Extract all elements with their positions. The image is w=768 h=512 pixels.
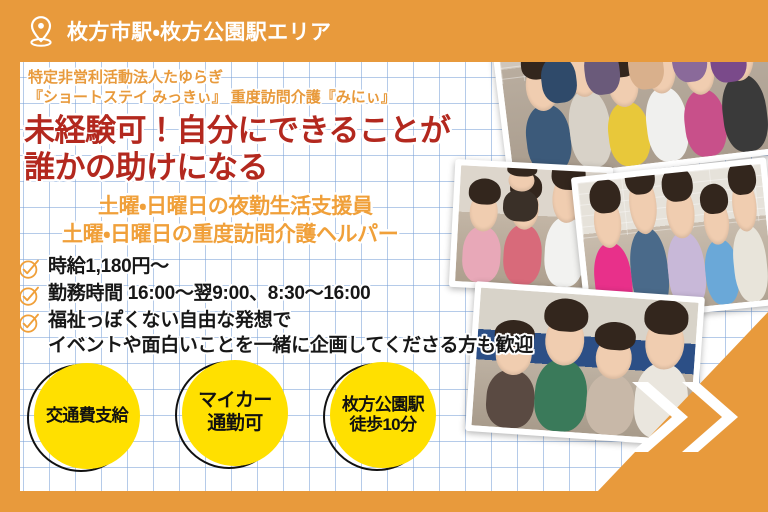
header-content: 枚方市駅・枚方公園駅エリア [0, 0, 768, 62]
badge-label: マイカー 通勤可 [198, 390, 272, 436]
badge-car-commute: マイカー 通勤可 [182, 360, 288, 466]
list-item: 福祉っぽくない自由な発想で イベントや面白いことを一緒に企画してくださる方も歓迎 [18, 308, 620, 359]
position-line-2: 土曜・日曜日の重度訪問介護ヘルパー [0, 221, 620, 249]
benefit-wage: 時給1,180円〜 [48, 254, 169, 279]
badge-disc: 枚方公園駅 徒歩10分 [330, 362, 436, 468]
positions-block: 土曜・日曜日の夜勤生活支援員 土曜・日曜日の重度訪問介護ヘルパー [0, 187, 620, 248]
badge-disc: 交通費支給 [34, 363, 140, 469]
organization-line-1: 特定非営利活動法人たゆらぎ [28, 68, 620, 88]
location-pin-icon [26, 14, 56, 48]
organization-block: 特定非営利活動法人たゆらぎ 『ショートステイ みっきぃ』 重度訪問介護『みにぃ』 [0, 62, 620, 109]
check-circle-icon [18, 285, 40, 307]
badge-label: 交通費支給 [46, 406, 128, 426]
benefits-list: 時給1,180円〜 勤務時間 16:00〜翌9:00、8:30〜16:00 [0, 249, 620, 359]
area-label: 枚方市駅・枚方公園駅エリア [67, 16, 331, 46]
badge-transport-allowance: 交通費支給 [34, 363, 140, 469]
benefit-culture: 福祉っぽくない自由な発想で イベントや面白いことを一緒に企画してくださる方も歓迎 [48, 308, 533, 359]
headline-line-2: 誰かの助けになる [24, 149, 620, 187]
badge-station-walk: 枚方公園駅 徒歩10分 [330, 362, 436, 468]
list-item: 時給1,180円〜 [18, 254, 620, 280]
benefit-hours: 勤務時間 16:00〜翌9:00、8:30〜16:00 [48, 281, 370, 306]
badge-disc: マイカー 通勤可 [182, 360, 288, 466]
job-advertisement-poster: 枚方市駅・枚方公園駅エリア 特定非営利活動法人たゆらぎ 『ショートステイ みっき… [0, 0, 768, 512]
position-line-1: 土曜・日曜日の夜勤生活支援員 [0, 193, 620, 221]
check-circle-icon [18, 258, 40, 280]
check-circle-icon [18, 312, 40, 334]
left-accent-strip [0, 0, 20, 512]
organization-line-2: 『ショートステイ みっきぃ』 重度訪問介護『みにぃ』 [28, 88, 620, 108]
list-item: 勤務時間 16:00〜翌9:00、8:30〜16:00 [18, 281, 620, 307]
benefit-culture-line-2: イベントや面白いことを一緒に企画してくださる方も歓迎 [48, 333, 533, 358]
benefit-culture-line-1: 福祉っぽくない自由な発想で [48, 310, 291, 331]
headline-line-1: 未経験可！自分にできることが [24, 112, 620, 150]
badge-label: 枚方公園駅 徒歩10分 [342, 395, 424, 436]
badge-group: 交通費支給 マイカー 通勤可 枚方公園駅 徒歩10分 [34, 360, 504, 475]
headline-block: 未経験可！自分にできることが 誰かの助けになる [0, 109, 620, 188]
double-chevron-right-icon [626, 374, 746, 460]
main-content: 特定非営利活動法人たゆらぎ 『ショートステイ みっきぃ』 重度訪問介護『みにぃ』… [0, 62, 620, 359]
